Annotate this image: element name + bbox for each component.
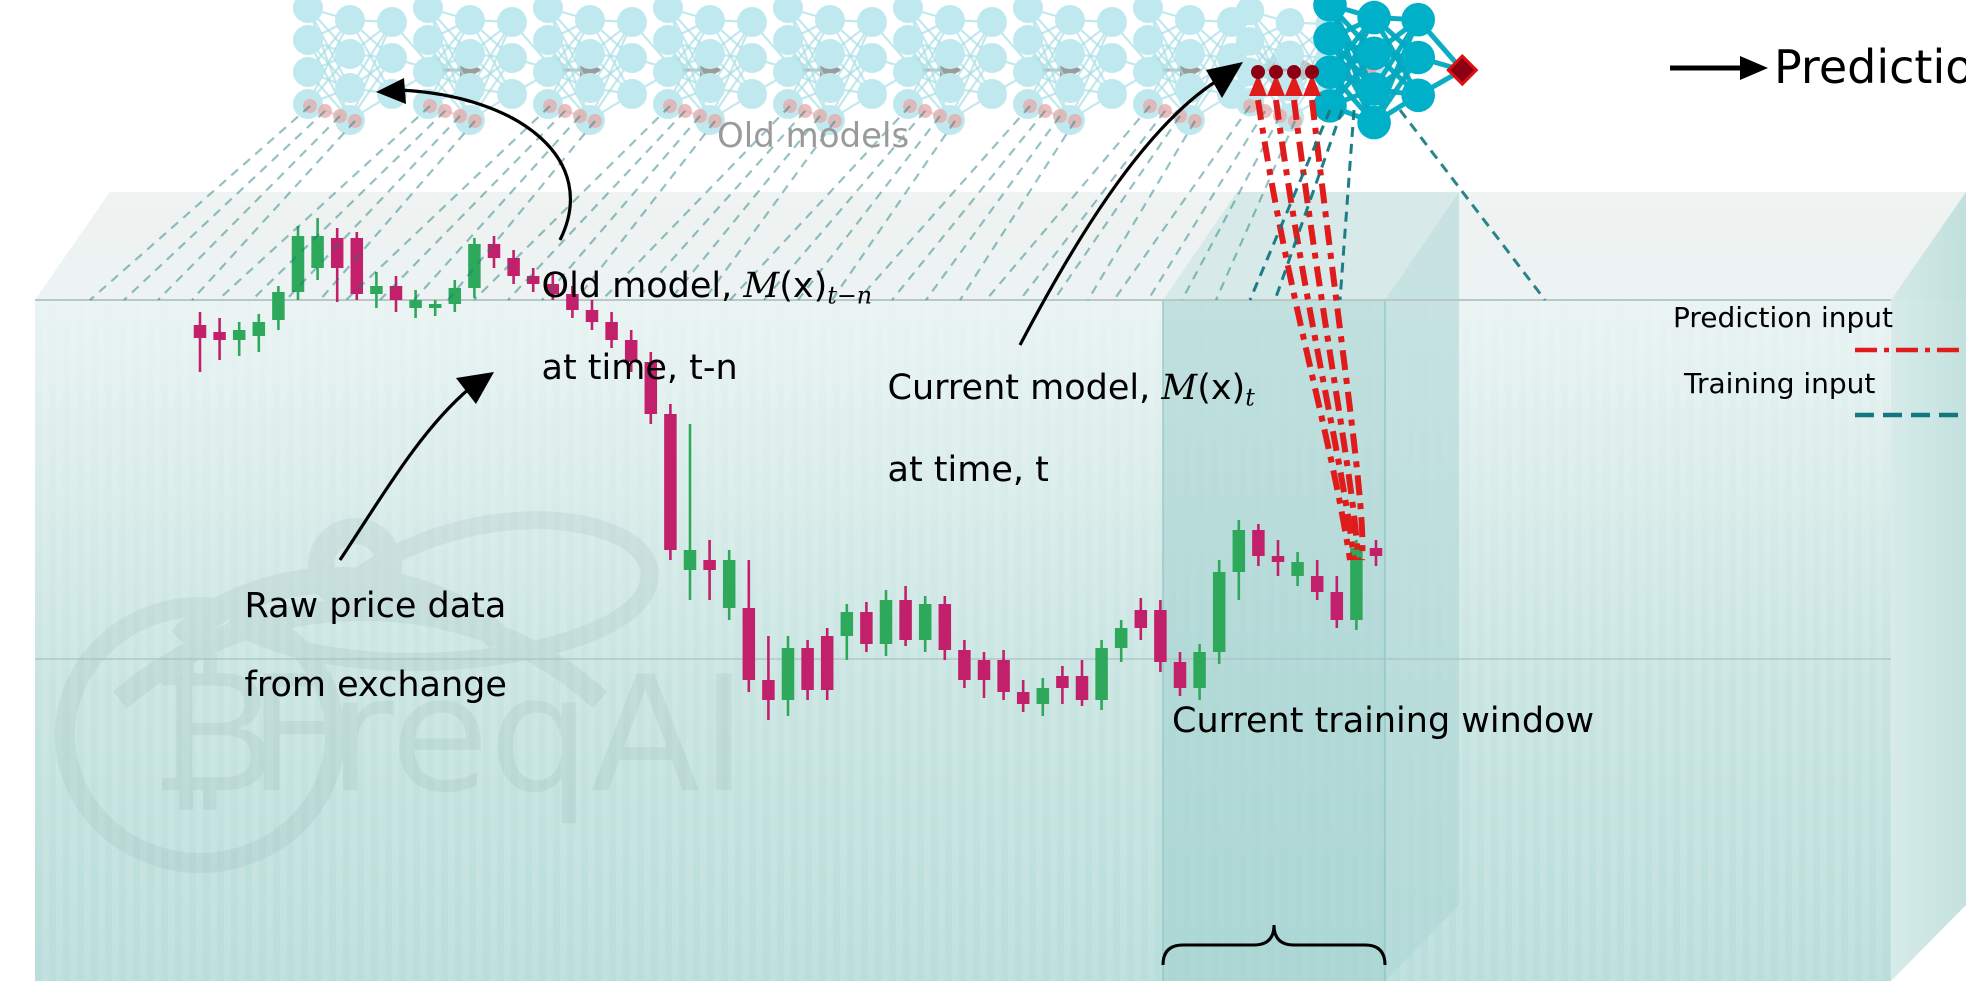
training-input-line [320, 121, 475, 300]
training-window-brace [1163, 925, 1385, 965]
raw-price-line2: from exchange [245, 665, 507, 705]
nn-node [1055, 39, 1085, 69]
nn-node [1236, 27, 1265, 56]
current-model-math-fn: M [1161, 368, 1197, 408]
training-input-line [926, 116, 1060, 300]
nn-node [1133, 57, 1163, 87]
nn-node [653, 25, 683, 55]
nn-node [773, 25, 803, 55]
nn-node [617, 7, 647, 37]
nn-node [1357, 72, 1391, 106]
current-model-callout-line1: Current model, M(x)t [888, 368, 1255, 408]
nn-node [815, 73, 845, 103]
training-input-line-current [1340, 110, 1354, 300]
nn-node [335, 39, 365, 69]
nn-node [1313, 22, 1347, 56]
prediction-input-dot [1287, 65, 1301, 79]
current-model-callout: Current model, M(x)t at time, t [843, 330, 1255, 529]
nn-node [695, 5, 725, 35]
prediction-input-dashes [1249, 65, 1545, 560]
old-models-label: Old models [717, 117, 909, 155]
nn-node [1175, 73, 1205, 103]
nn-node [1276, 8, 1305, 37]
nn-node [1276, 40, 1305, 68]
nn-node [1175, 39, 1205, 69]
nn-node [455, 5, 485, 35]
nn-node [857, 43, 887, 73]
nn-node [533, 25, 563, 55]
nn-node [1013, 25, 1043, 55]
nn-node [497, 43, 527, 73]
old-model-math-sub: t−n [827, 282, 872, 310]
training-input-line [892, 111, 1045, 300]
nn-node [1357, 1, 1391, 35]
nn-node [1097, 7, 1127, 37]
old-model-math-arg: (x) [779, 266, 827, 306]
nn-node [653, 57, 683, 87]
raw-price-callout: Raw price data from exchange [200, 548, 507, 744]
training-input-line [192, 121, 355, 300]
old-model-callout-line1: Old model, M(x)t−n [542, 266, 873, 306]
training-input-line [960, 121, 1075, 300]
nn-node [335, 73, 365, 103]
nn-node [1401, 41, 1435, 75]
nn-node [497, 79, 527, 109]
prediction-input-dot [1305, 65, 1319, 79]
nn-node [815, 39, 845, 69]
nn-node [617, 79, 647, 109]
prediction-input-line [1258, 100, 1350, 560]
old-model-math-fn: M [743, 266, 779, 306]
prediction-input-dot [1251, 65, 1265, 79]
nn-node [893, 57, 923, 87]
legend-prediction-label: Prediction input [1673, 302, 1893, 333]
nn-node [293, 57, 323, 87]
training-input-line [218, 106, 430, 300]
nn-node [413, 25, 443, 55]
nn-node [1097, 43, 1127, 73]
prediction-output [1670, 56, 1768, 80]
old-model-callout: Old model, M(x)t−n at time, t-n [497, 228, 872, 427]
nn-node [737, 79, 767, 109]
nn-node [533, 57, 563, 87]
nn-node [575, 39, 605, 69]
prediction-input-line [1312, 100, 1362, 560]
nn-node [695, 73, 725, 103]
nn-node [977, 7, 1007, 37]
old-model-callout-line2: at time, t-n [542, 348, 738, 388]
nn-node [1013, 57, 1043, 87]
training-input-line [1148, 111, 1265, 300]
nn-node [1175, 5, 1205, 35]
nn-node [1401, 79, 1435, 113]
nn-node [893, 25, 923, 55]
training-input-line [90, 106, 310, 300]
nn-node [377, 7, 407, 37]
nn-node [377, 43, 407, 73]
prediction-input-line [1276, 100, 1354, 560]
raw-price-line1: Raw price data [245, 586, 507, 626]
training-input-line-current [1400, 110, 1545, 300]
training-input-line [986, 106, 1150, 300]
nn-node [1357, 106, 1391, 140]
training-input-line [1088, 121, 1195, 300]
nn-node [857, 7, 887, 37]
nn-node [857, 79, 887, 109]
nn-node [935, 73, 965, 103]
nn-node [977, 79, 1007, 109]
nn-node [977, 43, 1007, 73]
nn-node [497, 7, 527, 37]
nn-node [737, 43, 767, 73]
nn-node [1097, 79, 1127, 109]
nn-node [773, 57, 803, 87]
nn-node [1055, 73, 1085, 103]
raw-price-callout-arrow [340, 388, 470, 560]
current-model-math-sub: t [1245, 384, 1255, 412]
nn-node [293, 25, 323, 55]
nn-node [815, 5, 845, 35]
nn-node [1055, 5, 1085, 35]
nn-node [695, 39, 725, 69]
current-model-math-arg: (x) [1197, 368, 1245, 408]
nn-node [413, 57, 443, 87]
nn-node [1133, 25, 1163, 55]
training-input-line [252, 111, 445, 300]
nn-node [455, 39, 485, 69]
nn-node [935, 39, 965, 69]
nn-node [935, 5, 965, 35]
nn-node [575, 73, 605, 103]
current-model-callout-line2: at time, t [888, 450, 1049, 490]
nn-node [1401, 3, 1435, 37]
nn-node [575, 5, 605, 35]
legend-training-label: Training input [1684, 368, 1875, 399]
nn-node [617, 43, 647, 73]
prediction-label: Prediction [1774, 42, 1966, 94]
training-window-label: Current training window [1172, 702, 1594, 741]
nn-node [1357, 37, 1391, 71]
nn-node [335, 5, 365, 35]
training-input-line [124, 111, 325, 300]
nn-node [737, 7, 767, 37]
diagram-canvas: FreqAI ₿ [0, 0, 1966, 981]
prediction-input-dot [1269, 65, 1283, 79]
